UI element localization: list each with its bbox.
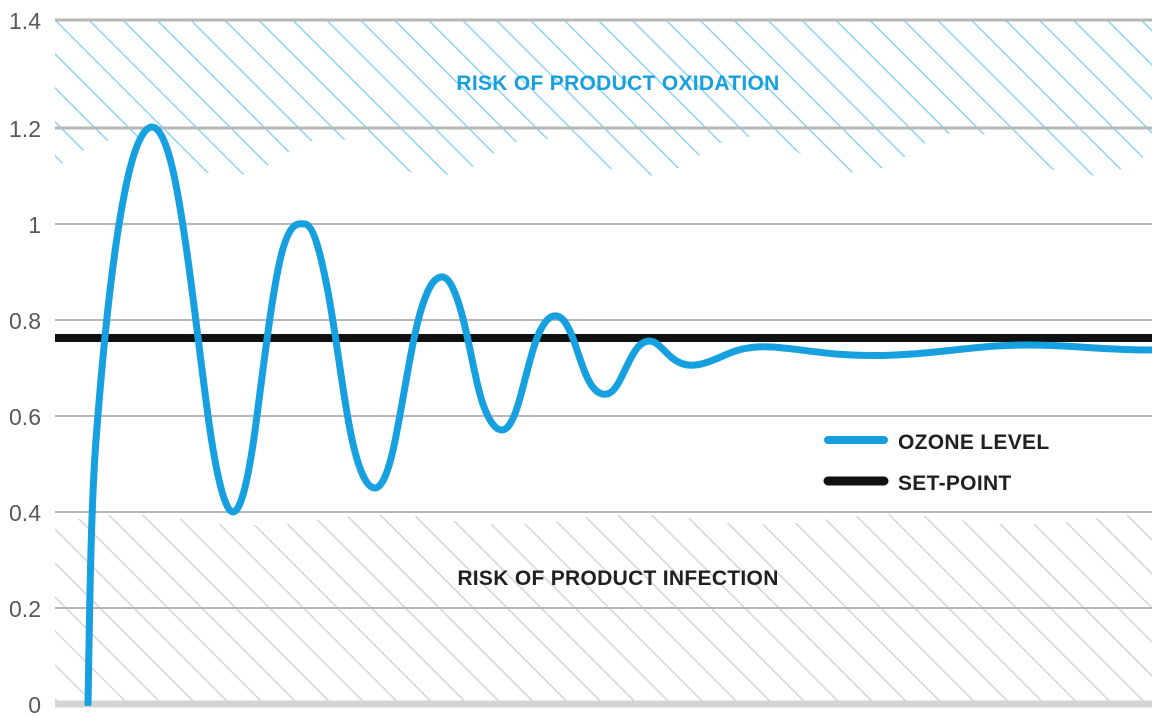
y-tick-0-2: 0.2 — [9, 596, 41, 622]
chart-legend: OZONE LEVEL SET-POINT — [828, 431, 1049, 495]
y-tick-0: 0 — [28, 692, 41, 717]
legend-label-set-point: SET-POINT — [898, 472, 1012, 495]
ozone-control-chart: 1.4 1.2 1 0.8 0.6 0.4 0.2 0 RISK OF PROD… — [0, 0, 1152, 717]
infection-risk-label: RISK OF PRODUCT INFECTION — [457, 567, 778, 590]
oxidation-risk-band — [55, 20, 1152, 176]
y-tick-1-0: 1 — [28, 212, 41, 238]
y-tick-0-6: 0.6 — [9, 404, 41, 430]
legend-item-set-point[interactable]: SET-POINT — [828, 472, 1012, 495]
legend-label-ozone-level: OZONE LEVEL — [898, 431, 1049, 454]
legend-item-ozone-level[interactable]: OZONE LEVEL — [828, 431, 1049, 454]
y-tick-0-8: 0.8 — [9, 308, 41, 334]
oxidation-risk-label: RISK OF PRODUCT OXIDATION — [456, 72, 779, 95]
oxidation-hatch-area — [55, 20, 1152, 176]
chart-canvas: 1.4 1.2 1 0.8 0.6 0.4 0.2 0 RISK OF PROD… — [0, 0, 1152, 717]
y-tick-0-4: 0.4 — [9, 500, 41, 526]
y-axis-tick-labels: 1.4 1.2 1 0.8 0.6 0.4 0.2 0 — [9, 8, 41, 717]
y-tick-1-2: 1.2 — [9, 116, 41, 142]
y-tick-1-4: 1.4 — [9, 8, 41, 34]
